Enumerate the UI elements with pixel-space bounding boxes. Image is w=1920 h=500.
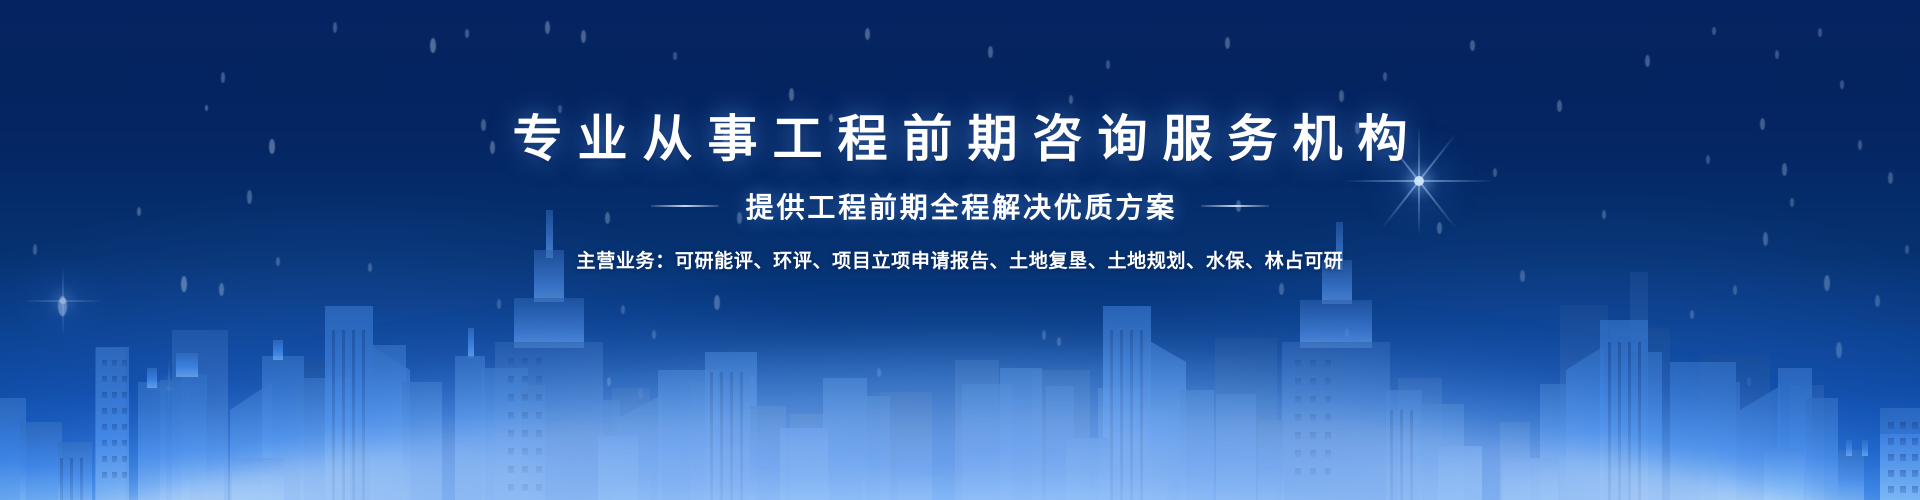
subtitle-row: 提供工程前期全程解决优质方案 [0, 186, 1920, 226]
page-title: 专业从事工程前期咨询服务机构 [0, 0, 1920, 166]
page-subtitle: 提供工程前期全程解决优质方案 [743, 186, 1177, 226]
services-line: 主营业务：可研能评、环评、项目立项申请报告、土地复垦、土地规划、水保、林占可研 [0, 246, 1920, 273]
decor-rule-right [1201, 205, 1269, 207]
hero-banner: 专业从事工程前期咨询服务机构 提供工程前期全程解决优质方案 主营业务：可研能评、… [0, 0, 1920, 500]
banner-content: 专业从事工程前期咨询服务机构 提供工程前期全程解决优质方案 主营业务：可研能评、… [0, 0, 1920, 273]
decor-rule-left [651, 205, 719, 207]
